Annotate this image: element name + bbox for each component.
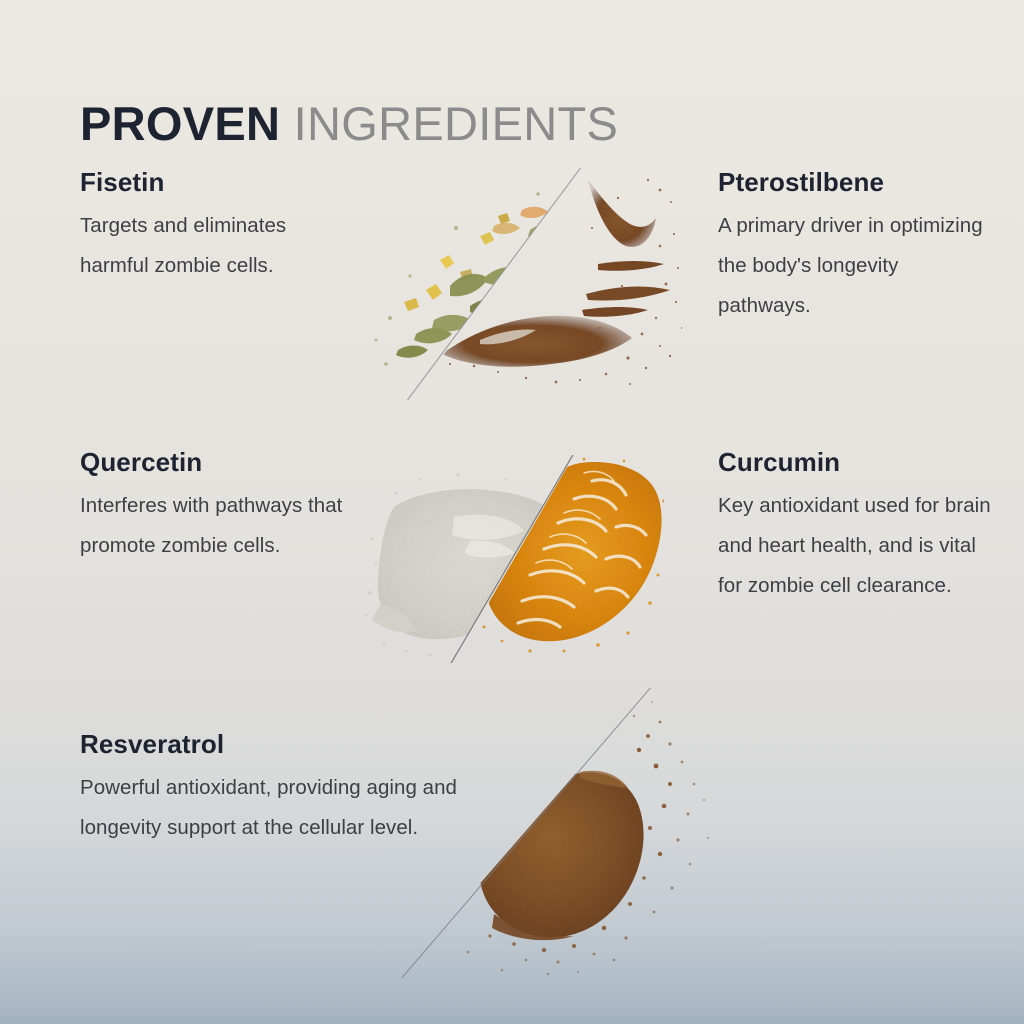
ingredient-block-quercetin: Quercetin Interferes with pathways that … <box>80 448 348 566</box>
ingredient-description-fisetin: Targets and eliminates harmful zombie ce… <box>80 206 348 286</box>
ingredient-name-pterostilbene: Pterostilbene <box>718 168 990 198</box>
ingredient-block-resveratrol: Resveratrol Powerful antioxidant, provid… <box>80 730 500 848</box>
powder-scatter <box>467 701 709 975</box>
ingredient-image-white-and-turmeric-powder <box>358 455 664 663</box>
diagonal-split-line <box>450 455 574 663</box>
ingredient-block-fisetin: Fisetin Targets and eliminates harmful z… <box>80 168 348 286</box>
ingredient-name-fisetin: Fisetin <box>80 168 348 198</box>
ingredient-block-pterostilbene: Pterostilbene A primary driver in optimi… <box>718 168 990 326</box>
ingredient-name-curcumin: Curcumin <box>718 448 994 478</box>
ingredients-poster: PROVEN INGREDIENTS <box>0 0 1024 1024</box>
ingredient-name-resveratrol: Resveratrol <box>80 730 500 760</box>
page-title-light <box>280 97 293 150</box>
ingredient-description-resveratrol: Powerful antioxidant, providing aging an… <box>80 768 500 848</box>
ingredient-description-curcumin: Key antioxidant used for brain and heart… <box>718 486 994 606</box>
ingredient-name-quercetin: Quercetin <box>80 448 348 478</box>
ingredient-description-pterostilbene: A primary driver in optimizing the body'… <box>718 206 990 326</box>
turmeric-powder-region <box>475 458 664 653</box>
powder-mound-region <box>479 771 643 940</box>
page-title-strong: PROVEN <box>80 97 280 150</box>
cocoa-powder-region <box>442 179 682 385</box>
ingredient-image-herbs-and-cocoa-powder <box>330 168 682 400</box>
pale-powder-region <box>364 474 566 657</box>
page-title-light-text: INGREDIENTS <box>294 97 619 150</box>
dried-herb-region <box>375 192 583 400</box>
diagonal-split-line <box>406 168 582 400</box>
page-title: PROVEN INGREDIENTS <box>80 99 618 149</box>
ingredient-block-curcumin: Curcumin Key antioxidant used for brain … <box>718 448 994 606</box>
ingredient-description-quercetin: Interferes with pathways that promote zo… <box>80 486 348 566</box>
